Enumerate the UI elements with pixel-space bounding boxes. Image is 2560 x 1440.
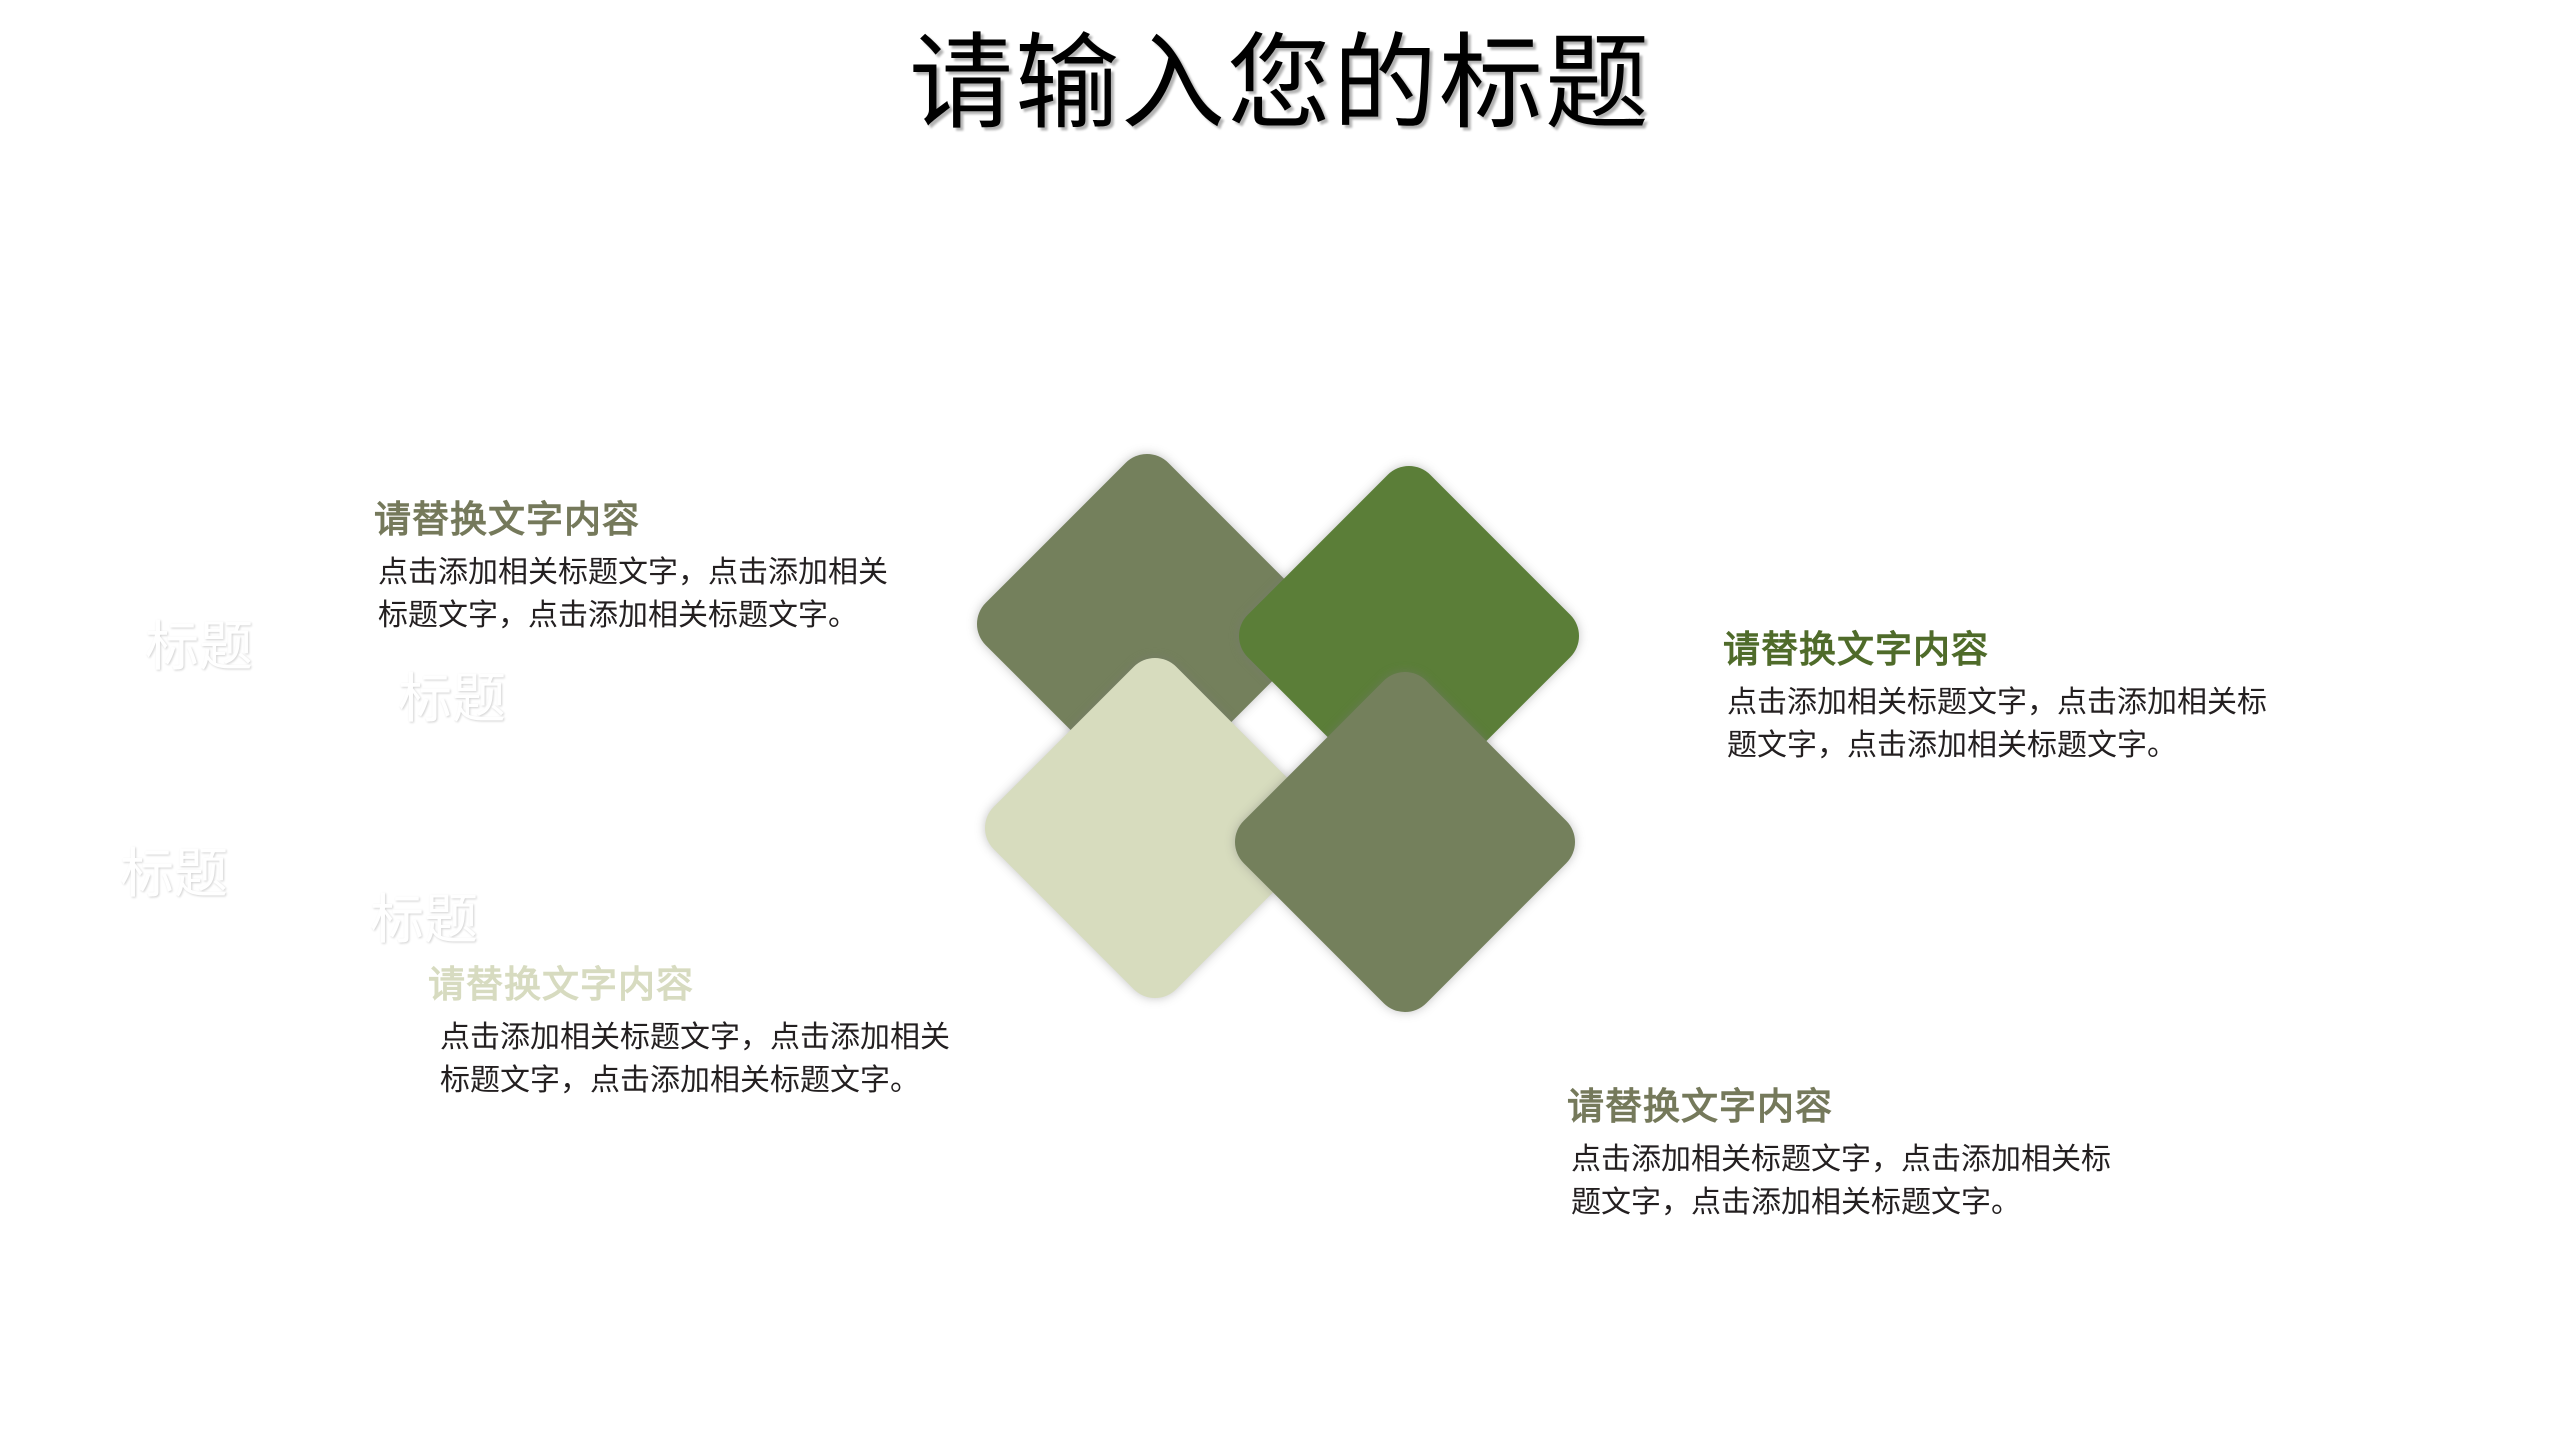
text-block-heading: 请替换文字内容 xyxy=(1723,628,2283,672)
text-block-top-left: 请替换文字内容 点击添加相关标题文字，点击添加相关标题文字，点击添加相关标题文字… xyxy=(374,498,894,638)
text-block-bottom-left: 请替换文字内容 点击添加相关标题文字，点击添加相关标题文字，点击添加相关标题文字… xyxy=(428,963,958,1103)
text-block-heading: 请替换文字内容 xyxy=(374,498,894,542)
text-block-bottom-right: 请替换文字内容 点击添加相关标题文字，点击添加相关标题文字，点击添加相关标题文字… xyxy=(1567,1085,2127,1225)
text-block-body: 点击添加相关标题文字，点击添加相关标题文字，点击添加相关标题文字。 xyxy=(1567,1139,2127,1224)
text-block-heading: 请替换文字内容 xyxy=(428,963,958,1007)
diamond-node-bottom-right[interactable] xyxy=(1223,660,1588,1025)
text-block-body: 点击添加相关标题文字，点击添加相关标题文字，点击添加相关标题文字。 xyxy=(1723,682,2283,767)
diamond-label-bottom-left: 标题 xyxy=(120,847,228,901)
diamond-label-top-right: 标题 xyxy=(398,672,506,726)
text-block-top-right: 请替换文字内容 点击添加相关标题文字，点击添加相关标题文字，点击添加相关标题文字… xyxy=(1723,628,2283,768)
text-block-body: 点击添加相关标题文字，点击添加相关标题文字，点击添加相关标题文字。 xyxy=(428,1017,958,1102)
diamond-label-bottom-right: 标题 xyxy=(370,893,478,947)
text-block-body: 点击添加相关标题文字，点击添加相关标题文字，点击添加相关标题文字。 xyxy=(374,552,894,637)
diamond-label-top-left: 标题 xyxy=(145,620,253,674)
page-title: 请输入您的标题 xyxy=(0,20,2560,150)
slide-canvas: 请输入您的标题 标题 标题 标题 标题 请替换文字内容 点击添加相关标题文字，点… xyxy=(0,0,2560,1440)
text-block-heading: 请替换文字内容 xyxy=(1567,1085,2127,1129)
diamond-diagram xyxy=(1018,495,1598,1085)
